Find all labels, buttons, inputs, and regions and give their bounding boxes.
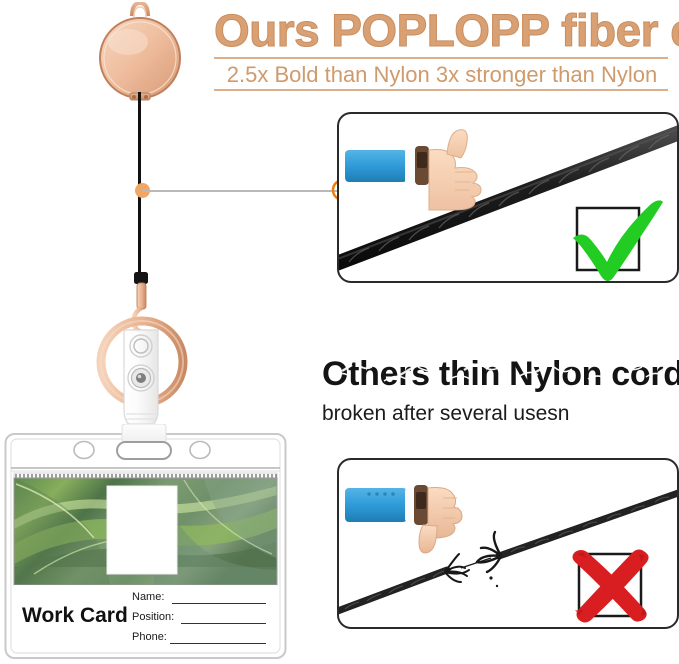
good-cord-panel: [337, 112, 679, 283]
product-comparison-graphic: Ours POPLOPP fiber cord 2.5x Bold than N…: [0, 0, 679, 664]
others-heading: Others thin Nylon cord: [322, 355, 672, 393]
work-card-title: Work Card: [22, 604, 128, 628]
card-field-label-phone: Phone:: [132, 631, 167, 643]
card-field-label-name: Name:: [132, 591, 164, 603]
keyring-clip-icon: [88, 268, 200, 448]
others-subheading: broken after several usesn: [322, 400, 679, 428]
callout-line: [142, 190, 342, 192]
good-cord-illustration: [339, 114, 677, 281]
card-field-rule-position: [181, 623, 266, 624]
ours-subheading: 2.5x Bold than Nylon 3x stronger than Ny…: [214, 60, 670, 90]
card-field-label-position: Position:: [132, 611, 174, 623]
bad-cord-panel: [337, 458, 679, 629]
card-field-rule-phone: [170, 643, 266, 644]
ours-heading: Ours POPLOPP fiber cord: [214, 8, 679, 54]
card-field-rule-name: [172, 603, 266, 604]
bad-cord-illustration: [339, 460, 677, 627]
heading-divider-bottom: [214, 89, 668, 91]
heading-divider-top: [214, 57, 668, 59]
